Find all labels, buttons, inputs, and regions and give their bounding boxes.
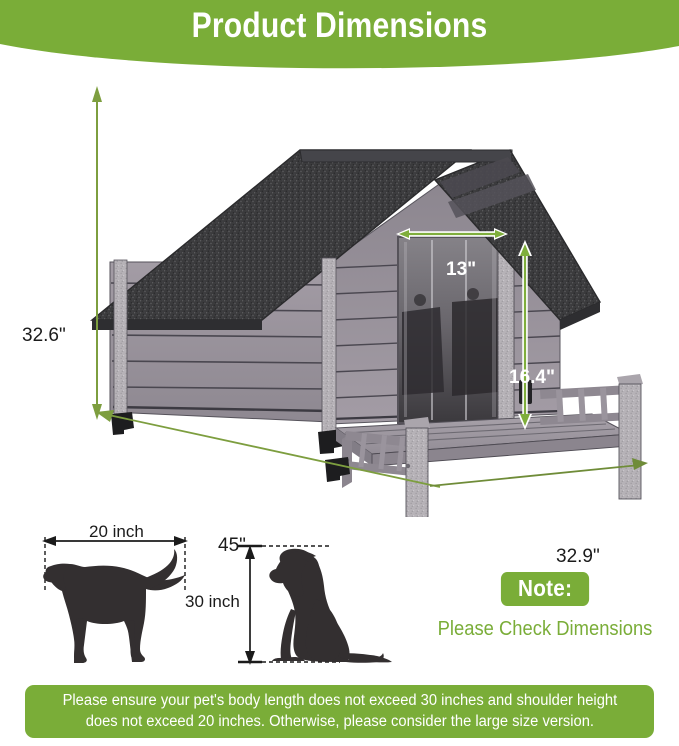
dimension-label-door-height: 16.4" [509, 367, 555, 389]
sitting-dog-measure-label: 30 inch [185, 592, 240, 612]
dog-house-drawing [0, 62, 679, 517]
dimension-label-door-width: 13" [446, 259, 476, 281]
dimension-arrow-height [92, 86, 102, 420]
sitting-dog-group [238, 545, 392, 665]
note-subtitle: Please Check Dimensions [430, 618, 660, 641]
footer-line-2: does not exceed 20 inches. Otherwise, pl… [62, 712, 617, 733]
standing-dog-measure-label: 20 inch [89, 522, 144, 542]
product-dimensions-infographic: Product Dimensions [0, 0, 679, 746]
note-badge: Note: [501, 572, 589, 606]
footer-warning-bar: Please ensure your pet's body length doe… [25, 685, 654, 738]
standing-dog-group [42, 536, 188, 663]
note-block: Note: Please Check Dimensions [420, 572, 670, 641]
dimension-arrow-depth [430, 458, 648, 486]
footer-warning-text: Please ensure your pet's body length doe… [49, 691, 630, 733]
dog-house-illustration: 32.6" 45" 32.9" 13" 16.4" [0, 62, 679, 517]
page-title: Product Dimensions [48, 6, 632, 46]
dimension-label-height: 32.6" [22, 325, 66, 347]
footer-line-1: Please ensure your pet's body length doe… [62, 691, 617, 712]
